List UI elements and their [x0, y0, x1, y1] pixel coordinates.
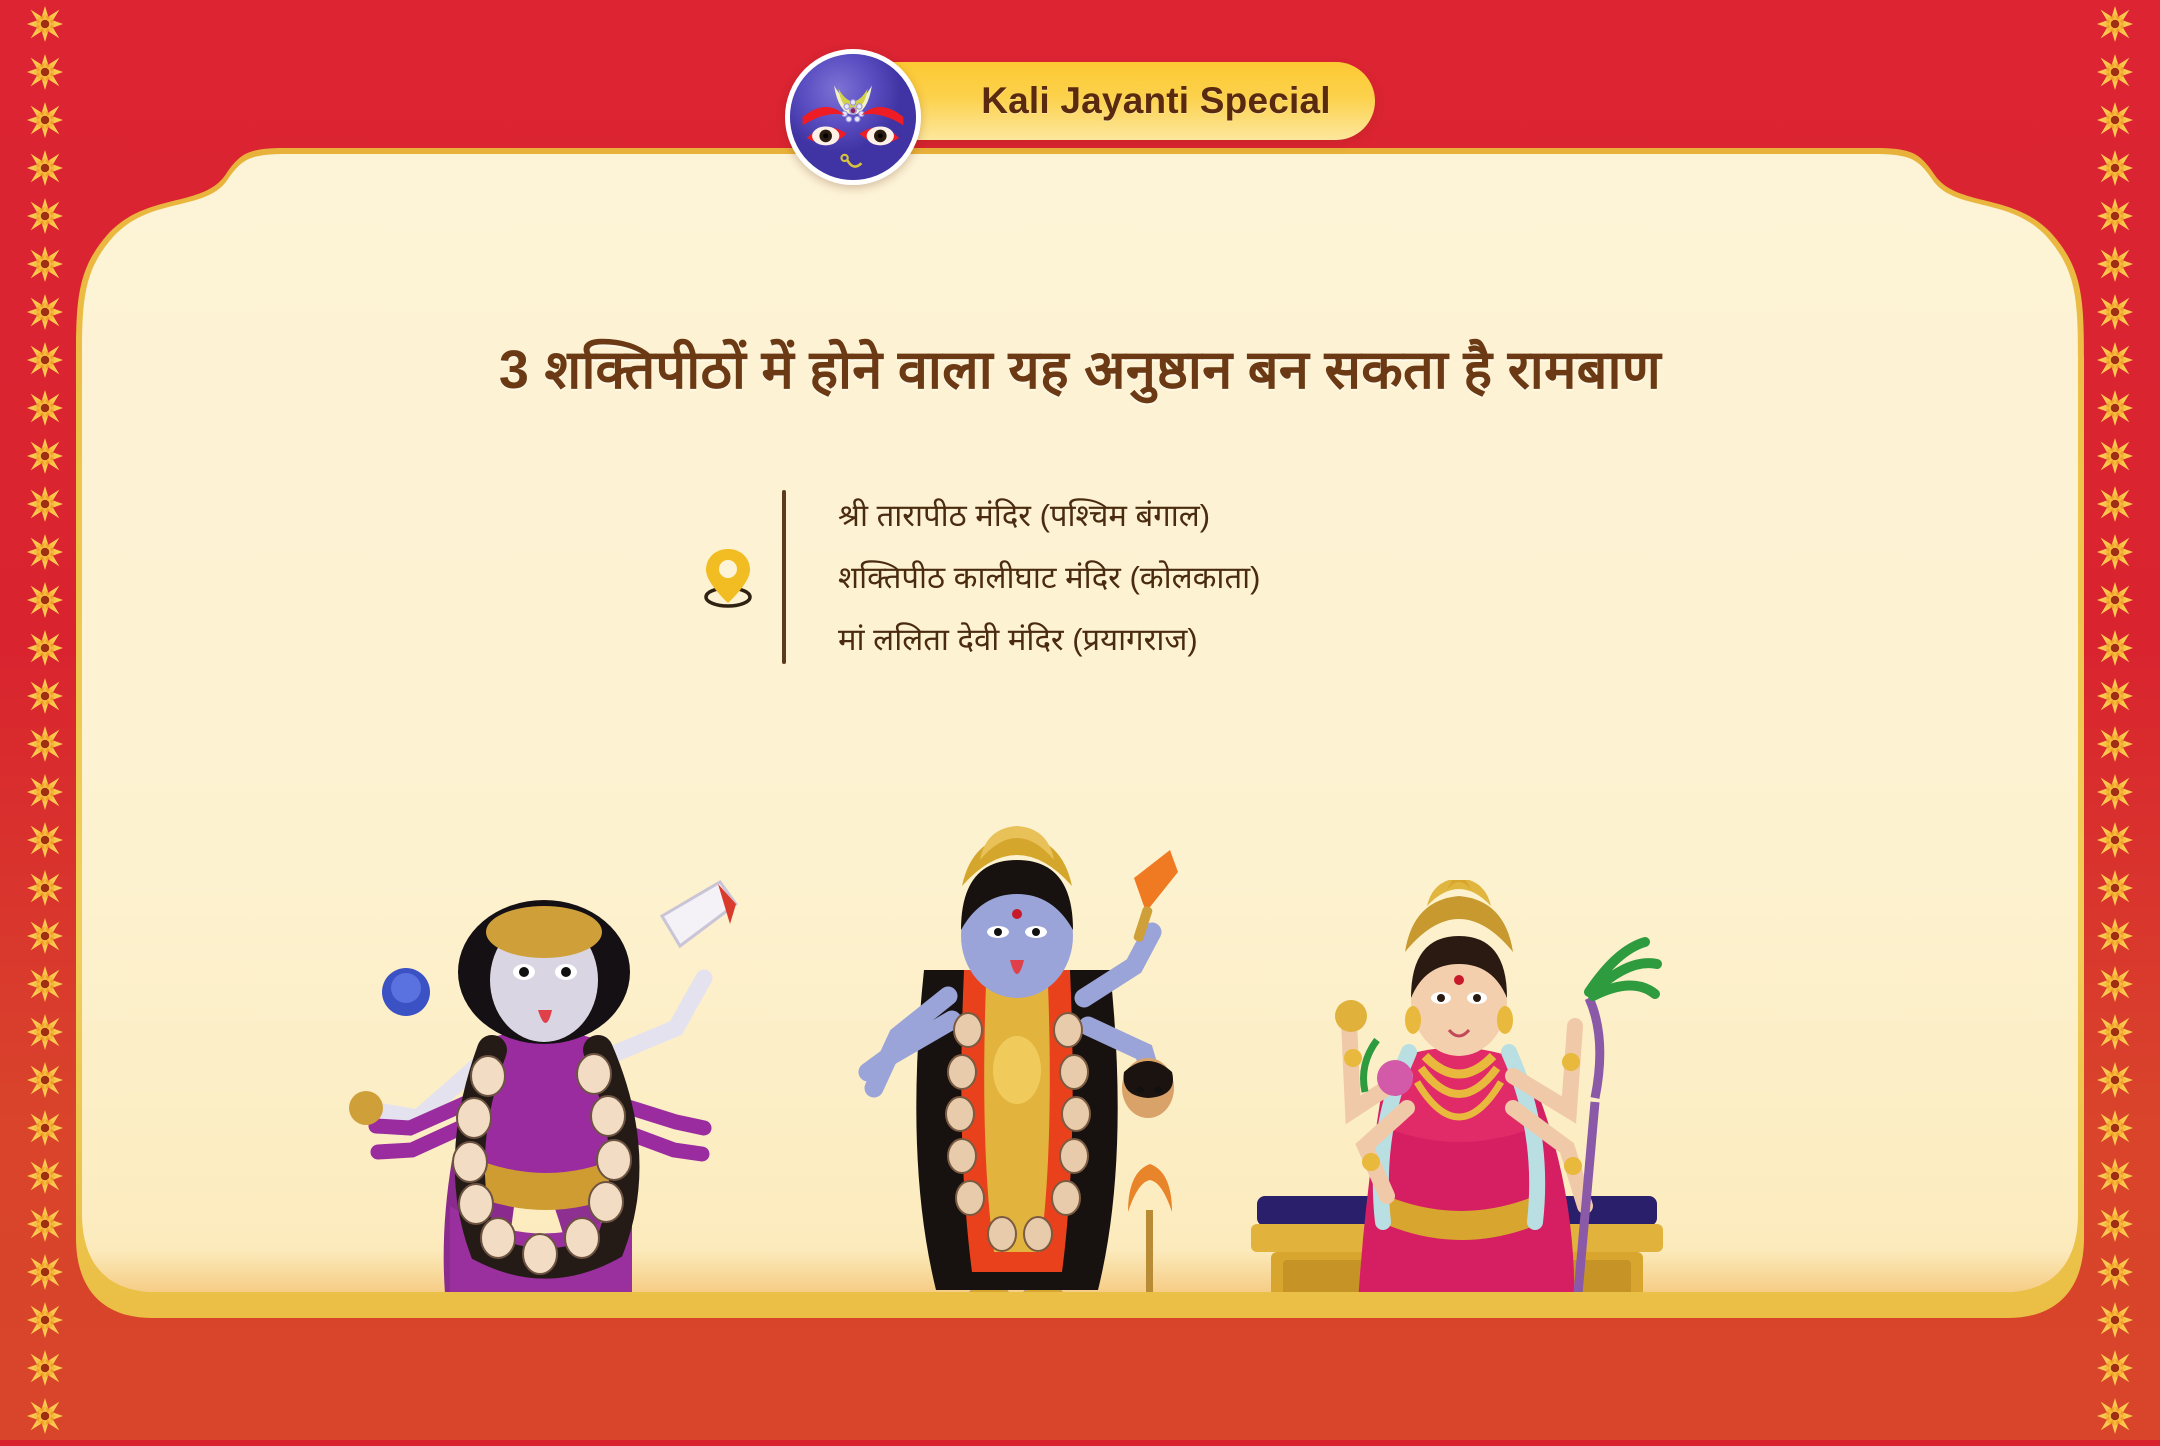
- list-item: श्री तारापीठ मंदिर (पश्चिम बंगाल): [838, 494, 1260, 536]
- flower-motif: [2095, 1348, 2135, 1388]
- flower-motif: [2095, 1012, 2135, 1052]
- flower-motif: [25, 292, 65, 332]
- flower-motif: [25, 1108, 65, 1148]
- border-flower-chain-left: [22, 0, 68, 1440]
- border-flower-chain-right: [2092, 0, 2138, 1440]
- flower-motif: [25, 628, 65, 668]
- flower-motif: [2095, 148, 2135, 188]
- flower-motif: [25, 772, 65, 812]
- flower-motif: [2095, 292, 2135, 332]
- flower-motif: [2095, 1108, 2135, 1148]
- flower-motif: [25, 1348, 65, 1388]
- deity-figures-row: [82, 820, 2078, 1440]
- goddess-kali-illustration: [852, 820, 1182, 1440]
- flower-motif: [2095, 244, 2135, 284]
- flower-motif: [2095, 532, 2135, 572]
- page-title: 3 शक्तिपीठों में होने वाला यह अनुष्ठान ब…: [0, 330, 2160, 404]
- flower-motif: [25, 196, 65, 236]
- flower-motif: [25, 868, 65, 908]
- flower-motif: [2095, 196, 2135, 236]
- badge-label: Kali Jayanti Special: [981, 80, 1331, 122]
- flower-motif: [25, 724, 65, 764]
- goddess-lalita-illustration: [1237, 880, 1677, 1440]
- flower-motif: [2095, 436, 2135, 476]
- temple-location-list: श्री तारापीठ मंदिर (पश्चिम बंगाल) शक्तिप…: [700, 490, 1260, 664]
- kali-jayanti-badge[interactable]: Kali Jayanti Special: [851, 62, 1375, 140]
- poster-background: Kali Jayanti Special 3 शक्तिपीठों में हो…: [0, 0, 2160, 1440]
- flower-motif: [2095, 772, 2135, 812]
- flower-motif: [2095, 1156, 2135, 1196]
- list-item: मां ललिता देवी मंदिर (प्रयागराज): [838, 618, 1260, 660]
- flower-motif: [2095, 724, 2135, 764]
- flower-motif: [25, 1396, 65, 1436]
- flower-motif: [2095, 484, 2135, 524]
- flower-motif: [2095, 1396, 2135, 1436]
- flower-motif: [25, 1060, 65, 1100]
- list-item: शक्तिपीठ कालीघाट मंदिर (कोलकाता): [838, 556, 1260, 598]
- flower-motif: [2095, 628, 2135, 668]
- goddess-tara-illustration: [332, 860, 762, 1440]
- flower-motif: [25, 916, 65, 956]
- flower-motif: [25, 820, 65, 860]
- flower-motif: [25, 964, 65, 1004]
- flower-motif: [2095, 868, 2135, 908]
- flower-motif: [25, 1300, 65, 1340]
- flower-motif: [2095, 820, 2135, 860]
- flower-motif: [25, 1252, 65, 1292]
- flower-motif: [2095, 4, 2135, 44]
- flower-motif: [25, 436, 65, 476]
- flower-motif: [2095, 1300, 2135, 1340]
- flower-motif: [2095, 1060, 2135, 1100]
- list-divider-rule: [782, 490, 786, 664]
- flower-motif: [25, 580, 65, 620]
- flower-motif: [25, 1012, 65, 1052]
- flower-motif: [25, 4, 65, 44]
- flower-motif: [25, 1156, 65, 1196]
- flower-motif: [2095, 676, 2135, 716]
- flower-motif: [2095, 580, 2135, 620]
- flower-motif: [2095, 964, 2135, 1004]
- flower-motif: [25, 244, 65, 284]
- flower-motif: [2095, 1252, 2135, 1292]
- badge-container: Kali Jayanti Special: [0, 62, 2160, 140]
- flower-motif: [25, 484, 65, 524]
- kali-face-icon: [785, 49, 921, 185]
- flower-motif: [25, 1204, 65, 1244]
- flower-motif: [25, 676, 65, 716]
- location-items: श्री तारापीठ मंदिर (पश्चिम बंगाल) शक्तिप…: [812, 490, 1260, 664]
- flower-motif: [2095, 916, 2135, 956]
- flower-motif: [25, 532, 65, 572]
- flower-motif: [25, 148, 65, 188]
- flower-motif: [2095, 1204, 2135, 1244]
- location-pin-icon: [700, 545, 756, 609]
